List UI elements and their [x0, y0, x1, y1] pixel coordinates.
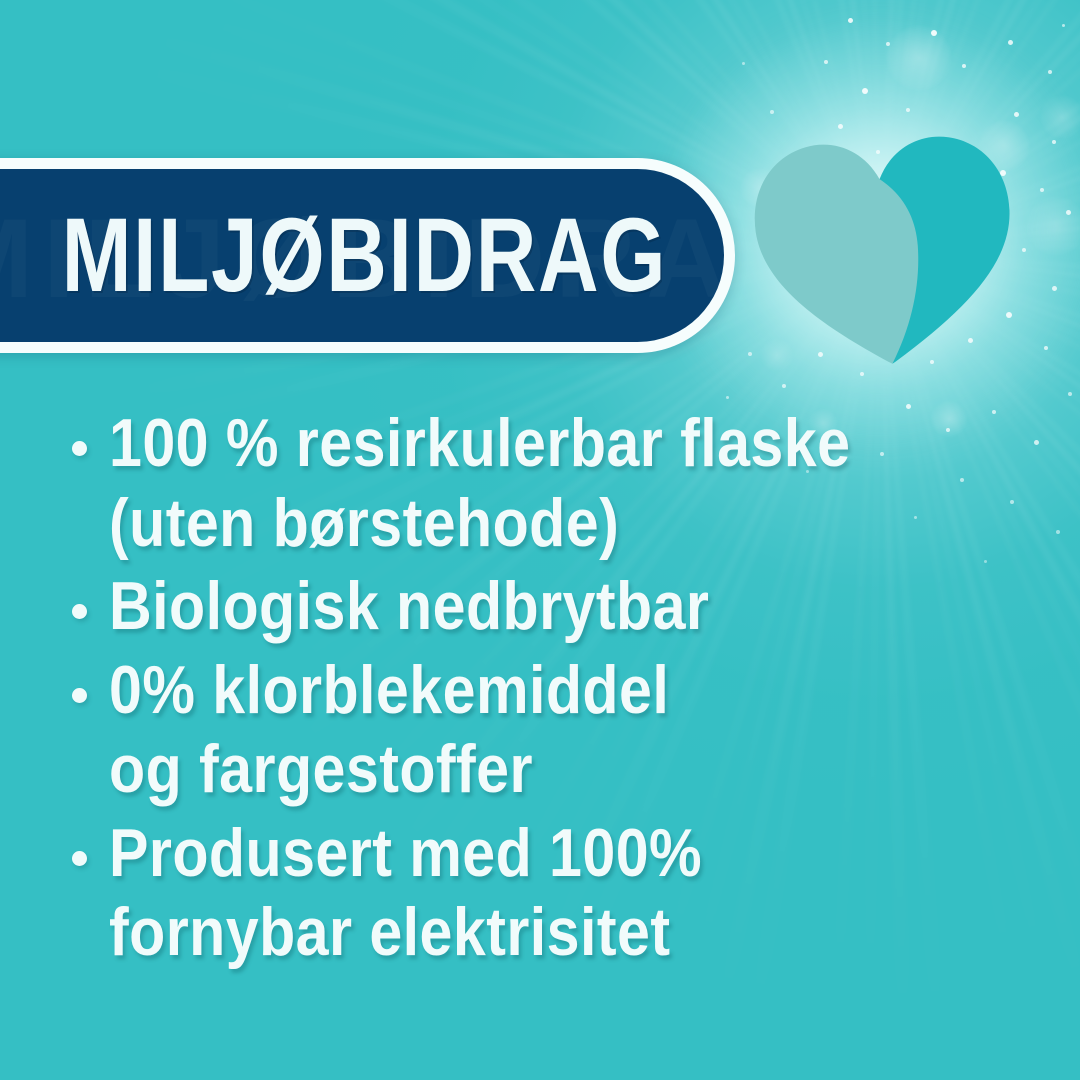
heart-icon — [749, 127, 1019, 372]
poster-canvas: MILJØBIDRAG MILJØBIDRAG 100 % resirkuler… — [0, 0, 1080, 1080]
list-item: Produsert med 100% fornybar elektrisitet — [72, 814, 972, 973]
list-item: 0% klorblekemiddel og fargestoffer — [72, 651, 972, 810]
benefits-list: 100 % resirkulerbar flaske (uten børsteh… — [72, 404, 972, 977]
list-item: Biologisk nedbrytbar — [72, 567, 972, 647]
benefit-text: 0% klorblekemiddel og fargestoffer — [109, 651, 860, 810]
bokeh-circle — [886, 25, 952, 91]
benefit-text: Biologisk nedbrytbar — [109, 567, 860, 647]
bullet-dot-icon — [72, 441, 87, 456]
bullet-dot-icon — [72, 851, 87, 866]
benefit-text: Produsert med 100% fornybar elektrisitet — [109, 814, 860, 973]
miljobidrag-banner: MILJØBIDRAG MILJØBIDRAG — [0, 158, 735, 353]
page-title: MILJØBIDRAG — [18, 203, 645, 308]
bokeh-circle — [1040, 95, 1080, 139]
bullet-dot-icon — [72, 604, 87, 619]
bullet-dot-icon — [72, 688, 87, 703]
bokeh-circle — [1026, 196, 1080, 256]
benefit-text: 100 % resirkulerbar flaske (uten børsteh… — [109, 404, 860, 563]
heart-logo — [749, 127, 1019, 372]
list-item: 100 % resirkulerbar flaske (uten børsteh… — [72, 404, 972, 563]
